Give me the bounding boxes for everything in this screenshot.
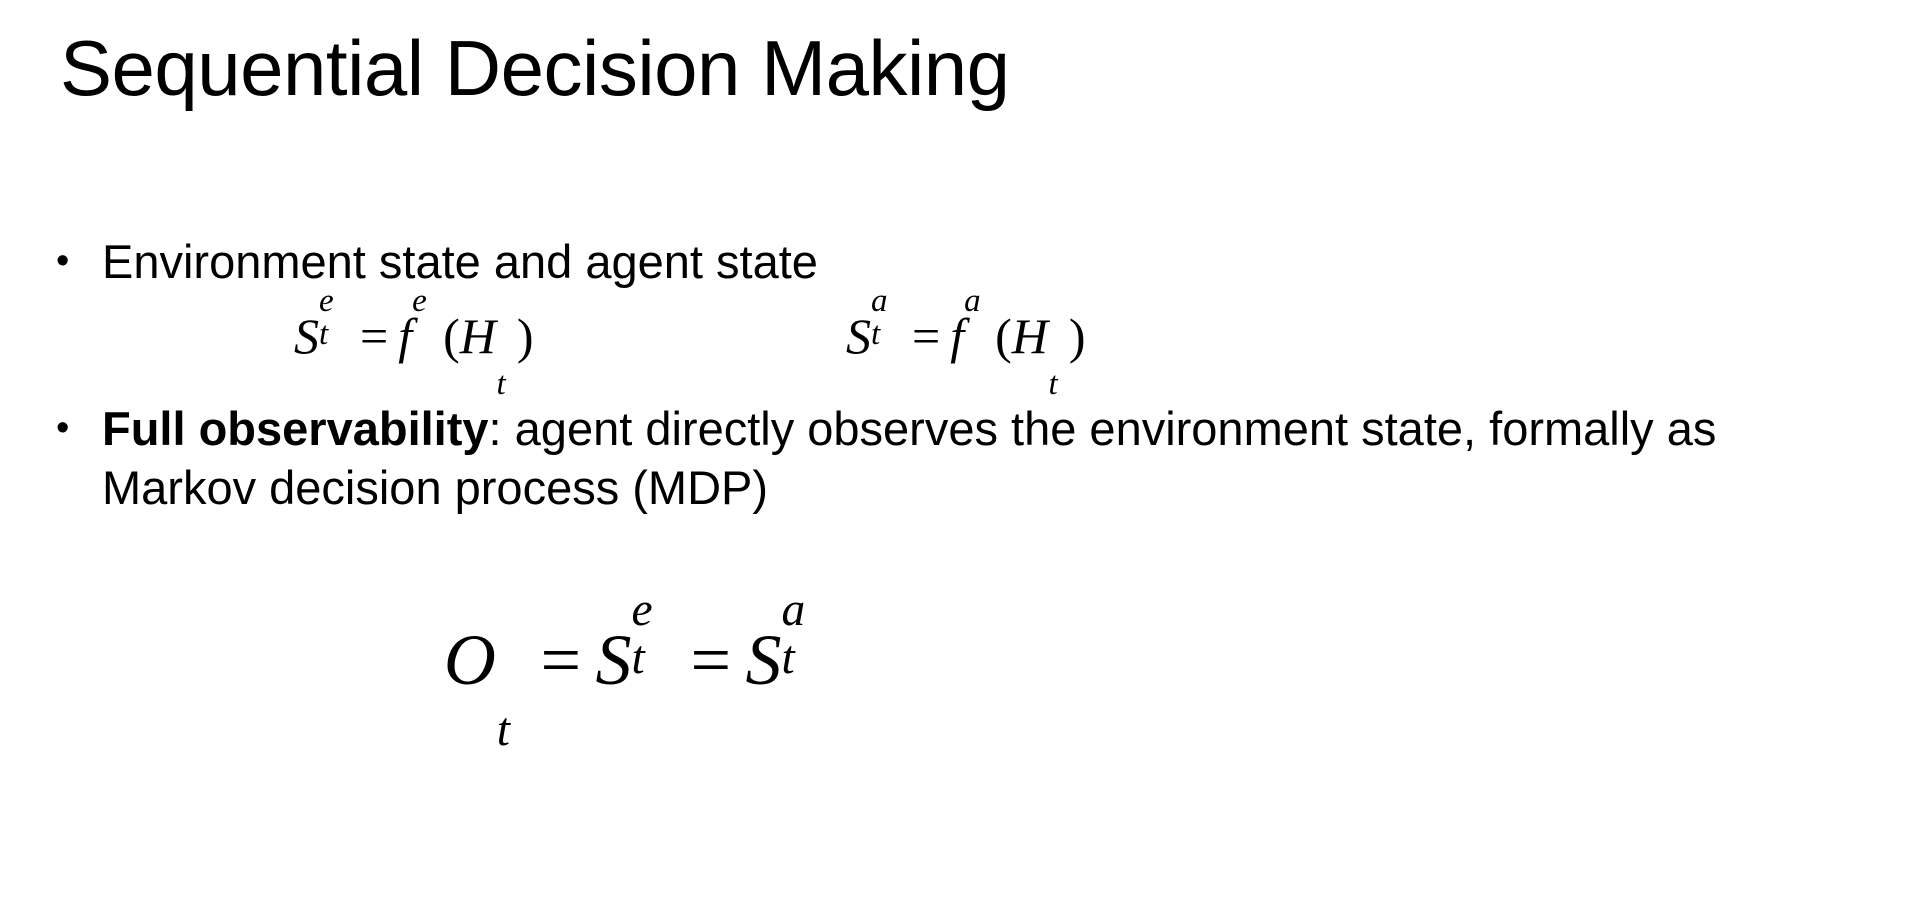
math-close-paren: ) (517, 308, 534, 364)
formula-agent-environment-state-a: Sat=fa(Ht) (846, 303, 1086, 365)
slide-title: Sequential Decision Making (60, 26, 1010, 110)
math-open-paren: ( (995, 308, 1012, 364)
math-S-sub-t-sup-e: Set (294, 303, 350, 365)
bullet-dot-icon: • (56, 399, 102, 458)
math-H-sub-t: Ht (1012, 307, 1069, 365)
math-close-paren: ) (1069, 308, 1086, 364)
math-equals-sign: = (902, 308, 950, 364)
bullet-text-full-observability: Full observability: agent directly obser… (102, 399, 1866, 517)
formula-agent-environment-state-e: Set=fe(Ht) (294, 303, 534, 365)
display-formula-observation-equality: Ot=Set=Sat (0, 612, 1270, 702)
math-H-sub-t: Ht (460, 307, 517, 365)
math-equals-sign: = (676, 620, 745, 700)
inline-formula-row: Set=fe(Ht) Sat=fa(Ht) (56, 303, 1866, 395)
bullet-item-full-observability: • Full observability: agent directly obs… (56, 399, 1866, 517)
bullet-dot-icon: • (56, 232, 102, 291)
math-S-sub-t-sup-a: Sat (846, 303, 902, 365)
slide-body: • Environment state and agent state Set=… (56, 232, 1866, 518)
math-S-sub-t-sup-e: Set (595, 612, 676, 702)
math-O-sub-t: Ot (444, 619, 526, 702)
math-f-sup-e: fe (398, 303, 443, 365)
bullet-text-environment-state: Environment state and agent state (102, 232, 1866, 291)
slide-canvas: Sequential Decision Making • Environment… (0, 0, 1920, 920)
math-S-sub-t-sup-a: Sat (746, 612, 827, 702)
math-equals-sign: = (350, 308, 398, 364)
bullet-bold-lead-full-observability: Full observability (102, 402, 489, 455)
math-f-sup-a: fa (950, 303, 995, 365)
math-open-paren: ( (443, 308, 460, 364)
math-equals-sign: = (526, 620, 595, 700)
